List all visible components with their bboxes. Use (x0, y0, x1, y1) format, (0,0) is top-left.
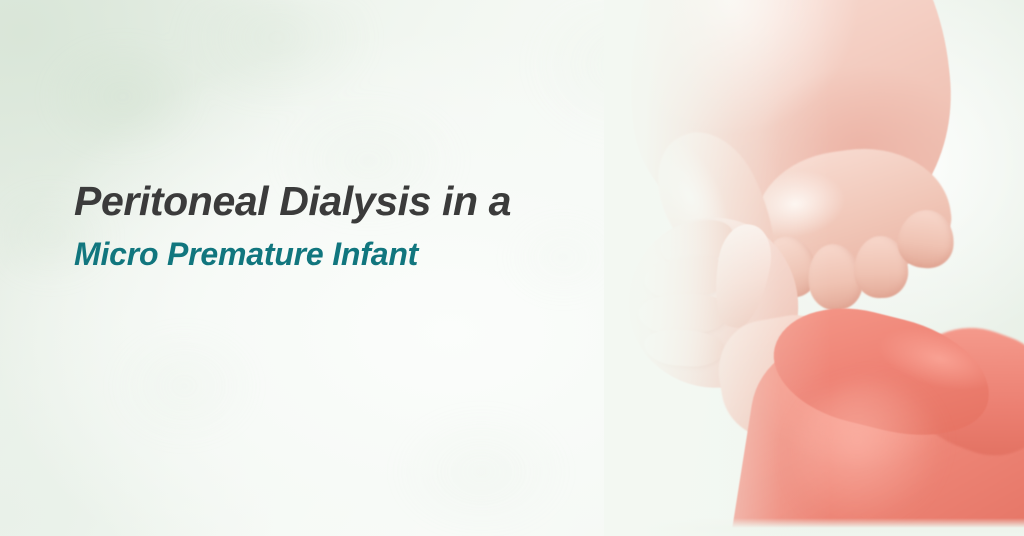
article-banner: Peritoneal Dialysis in a Micro Premature… (0, 0, 1024, 536)
coral-sleeve-highlight (794, 382, 944, 532)
hero-photo (604, 0, 1024, 536)
page-title: Peritoneal Dialysis in a Micro Premature… (74, 178, 634, 272)
title-line-primary: Peritoneal Dialysis in a (74, 178, 634, 224)
photo-bottom-edge (604, 518, 1024, 536)
title-line-accent: Micro Premature Infant (74, 236, 634, 272)
